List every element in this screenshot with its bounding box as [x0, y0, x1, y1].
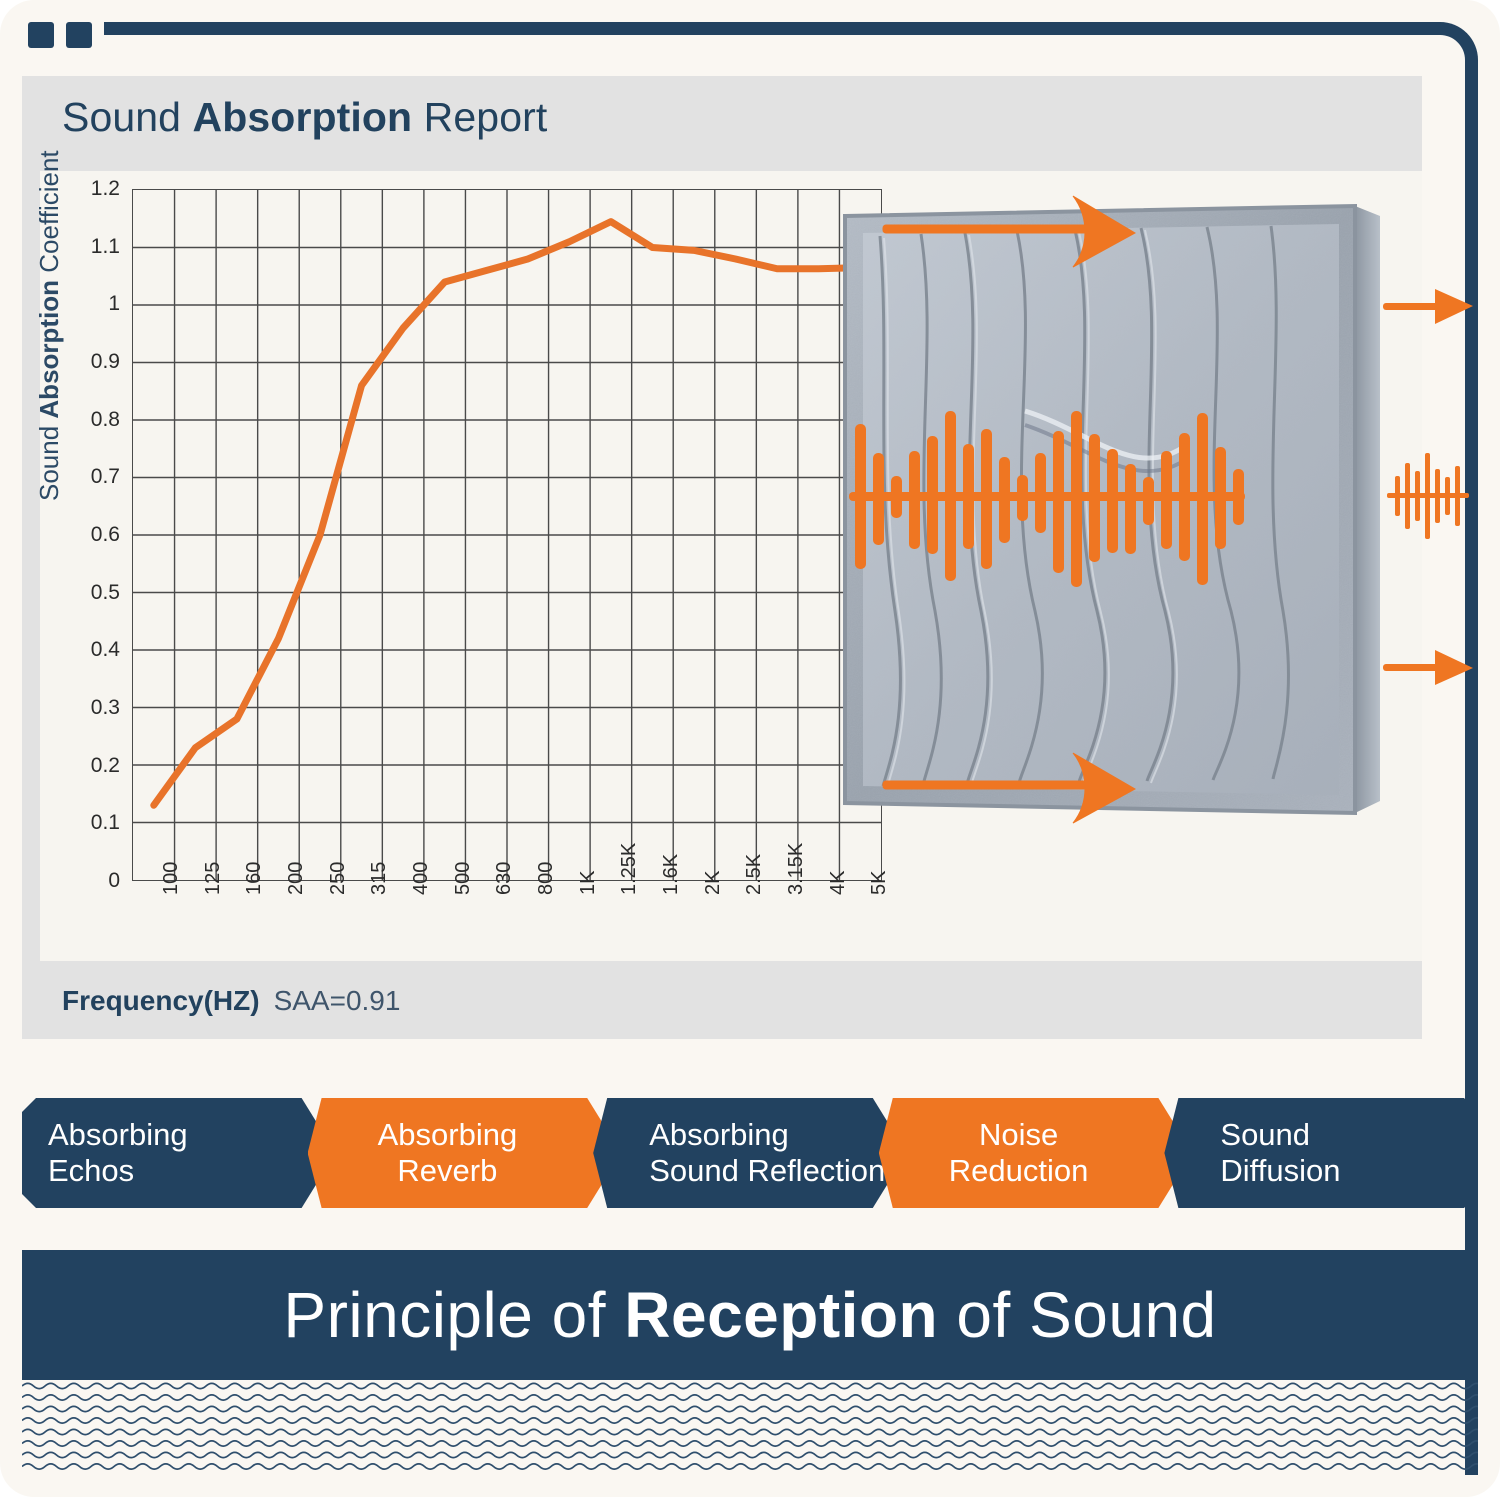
poster-root: Sound Absorption Report Sound Absorption…	[0, 0, 1500, 1497]
y-axis-tick: 0.6	[91, 523, 120, 547]
x-axis-tick: 3.15K	[785, 843, 808, 895]
x-axis-tick: 1.25K	[618, 843, 641, 895]
y-axis-tick: 0.5	[91, 581, 120, 605]
plot-canvas	[132, 189, 882, 881]
panel-side-edge	[1355, 206, 1380, 813]
x-axis-tick: 2.5K	[743, 854, 766, 895]
plot-wrapper: 1.21.110.90.80.70.60.50.40.30.20.10 1001…	[80, 189, 890, 889]
chevron-label-line1: Sound	[1220, 1117, 1478, 1153]
wave-row	[22, 1418, 1478, 1423]
wave-row	[22, 1429, 1478, 1434]
sound-absorption-report-card: Sound Absorption Report Sound Absorption…	[22, 76, 1422, 1039]
y-axis-tick: 0.3	[91, 696, 120, 720]
report-title-suffix: Report	[412, 94, 547, 140]
report-title-bold: Absorption	[193, 94, 413, 140]
x-axis-tick: 4K	[827, 871, 850, 895]
outgoing-arrow-bottom	[1383, 650, 1473, 685]
chevron-label-line2: Diffusion	[1220, 1153, 1478, 1189]
x-axis-tick: 500	[452, 862, 475, 895]
chevron-label-line1: Absorbing	[308, 1117, 588, 1153]
chart-gridlines	[133, 190, 881, 880]
chevron-label-line2: Echos	[48, 1153, 336, 1189]
footer-title-suffix: of Sound	[938, 1279, 1217, 1351]
y-axis-title-suffix: Coefficient	[34, 150, 64, 280]
corner-square-2-icon	[66, 22, 92, 48]
x-axis-tick: 250	[327, 862, 350, 895]
feature-chevron-1[interactable]: AbsorbingEchos	[22, 1098, 336, 1208]
x-axis-tick: 125	[202, 862, 225, 895]
chevron-label-line2: Sound Reflection	[649, 1153, 907, 1189]
feature-chevron-4[interactable]: NoiseReduction	[879, 1098, 1193, 1208]
y-axis-tick: 1.1	[91, 235, 120, 259]
y-axis-tick: 1	[108, 292, 120, 316]
x-axis-tick: 400	[410, 862, 433, 895]
y-axis-tick: 1.2	[91, 177, 120, 201]
poster-footer-title-bar: Principle of Reception of Sound	[22, 1250, 1478, 1380]
x-axis-tick: 160	[243, 862, 266, 895]
corner-square-1-icon	[28, 22, 54, 48]
feature-chevron-banner: AbsorbingEchosAbsorbingReverbAbsorbingSo…	[22, 1098, 1478, 1208]
x-axis-tick: 1.6K	[660, 854, 683, 895]
y-axis-tick-labels: 1.21.110.90.80.70.60.50.40.30.20.10	[80, 189, 126, 881]
y-axis-tick: 0.8	[91, 408, 120, 432]
feature-chevron-3[interactable]: AbsorbingSound Reflection	[593, 1098, 907, 1208]
external-waveform-icon	[1387, 453, 1469, 539]
chart-area: Sound Absorption Coefficient 1.21.110.90…	[40, 171, 1422, 961]
wave-row	[22, 1406, 1478, 1411]
x-axis-tick: 630	[493, 862, 516, 895]
wave-row	[22, 1441, 1478, 1446]
chevron-label-line2: Reverb	[308, 1153, 588, 1189]
y-axis-title: Sound Absorption Coefficient	[34, 150, 65, 501]
wave-row	[22, 1464, 1478, 1469]
saa-value: SAA=0.91	[274, 985, 401, 1016]
y-axis-title-prefix: Sound	[34, 419, 64, 501]
chevron-label-line1: Absorbing	[649, 1117, 907, 1153]
footer-title-bold: Reception	[624, 1279, 938, 1351]
y-axis-tick: 0.7	[91, 465, 120, 489]
chevron-label-line1: Absorbing	[48, 1117, 336, 1153]
wave-row	[22, 1383, 1478, 1388]
chart-footer: Frequency(HZ)SAA=0.91	[62, 985, 400, 1017]
chevron-label-line1: Noise	[879, 1117, 1159, 1153]
x-axis-tick: 315	[368, 862, 391, 895]
poster-footer-title: Principle of Reception of Sound	[283, 1278, 1216, 1352]
y-axis-tick: 0.9	[91, 350, 120, 374]
y-axis-tick: 0.4	[91, 638, 120, 662]
x-axis-tick: 800	[535, 862, 558, 895]
feature-chevron-5[interactable]: SoundDiffusion	[1164, 1098, 1478, 1208]
x-axis-tick: 200	[285, 862, 308, 895]
x-axis-tick: 100	[160, 862, 183, 895]
report-title-prefix: Sound	[62, 94, 193, 140]
acoustic-panel-illustration	[835, 181, 1475, 841]
footer-title-prefix: Principle of	[283, 1279, 624, 1351]
x-axis-title: Frequency(HZ)	[62, 985, 260, 1016]
feature-chevron-2[interactable]: AbsorbingReverb	[308, 1098, 622, 1208]
x-axis-tick-labels: 1001251602002503154005006308001K1.25K1.6…	[132, 889, 882, 999]
y-axis-tick: 0.1	[91, 811, 120, 835]
y-axis-title-bold: Absorption	[34, 280, 64, 419]
y-axis-tick: 0	[108, 869, 120, 893]
x-axis-tick: 5K	[868, 871, 891, 895]
report-title: Sound Absorption Report	[62, 94, 547, 141]
chevron-label-line2: Reduction	[879, 1153, 1159, 1189]
wave-row	[22, 1452, 1478, 1457]
decorative-wave-pattern	[22, 1380, 1478, 1475]
y-axis-tick: 0.2	[91, 754, 120, 778]
wave-row	[22, 1395, 1478, 1400]
absorption-curve-svg	[133, 190, 881, 880]
x-axis-tick: 1K	[577, 871, 600, 895]
outgoing-arrow-top	[1383, 289, 1473, 324]
x-axis-tick: 2K	[702, 871, 725, 895]
